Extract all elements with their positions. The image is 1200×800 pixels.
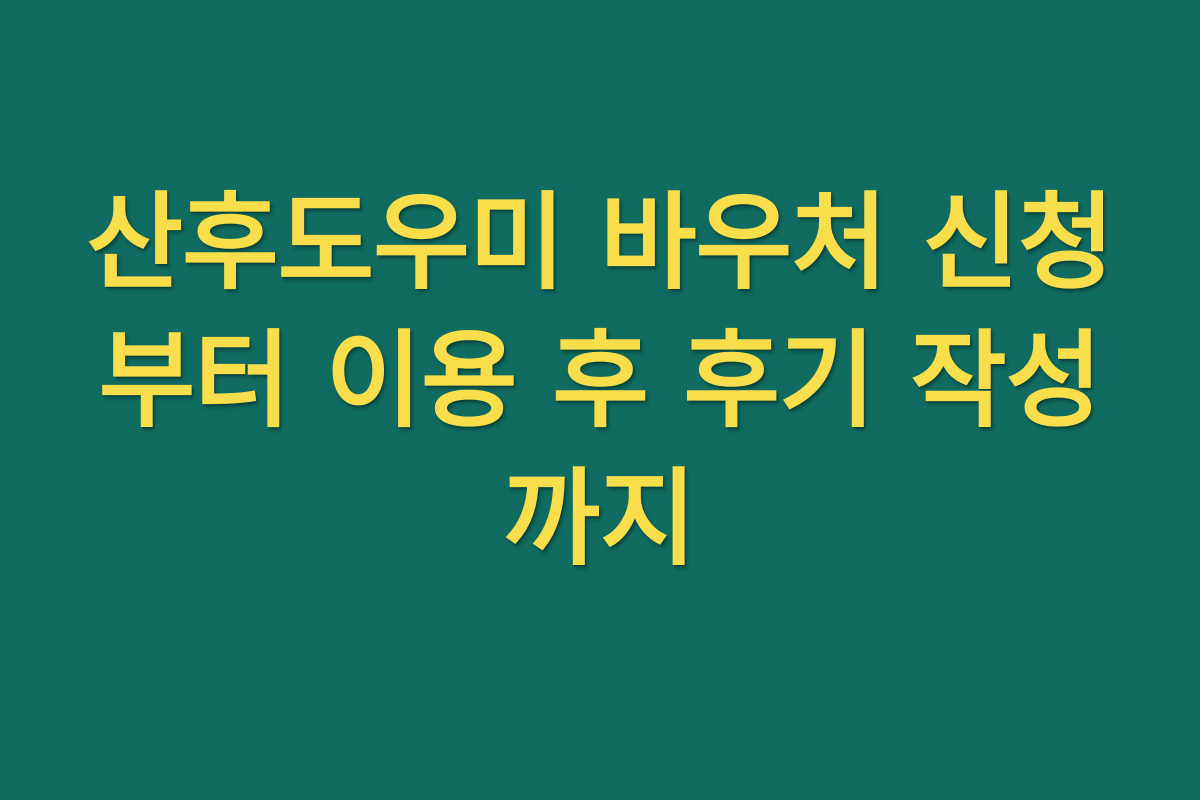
headline-line-2: 부터 이용 후 후기 작성 (70, 312, 1130, 450)
headline: 산후도우미 바우처 신청 부터 이용 후 후기 작성 까지 (70, 174, 1130, 588)
headline-line-3: 까지 (70, 450, 1130, 588)
headline-line-1: 산후도우미 바우처 신청 (70, 174, 1130, 312)
title-card: 산후도우미 바우처 신청 부터 이용 후 후기 작성 까지 (0, 0, 1200, 800)
